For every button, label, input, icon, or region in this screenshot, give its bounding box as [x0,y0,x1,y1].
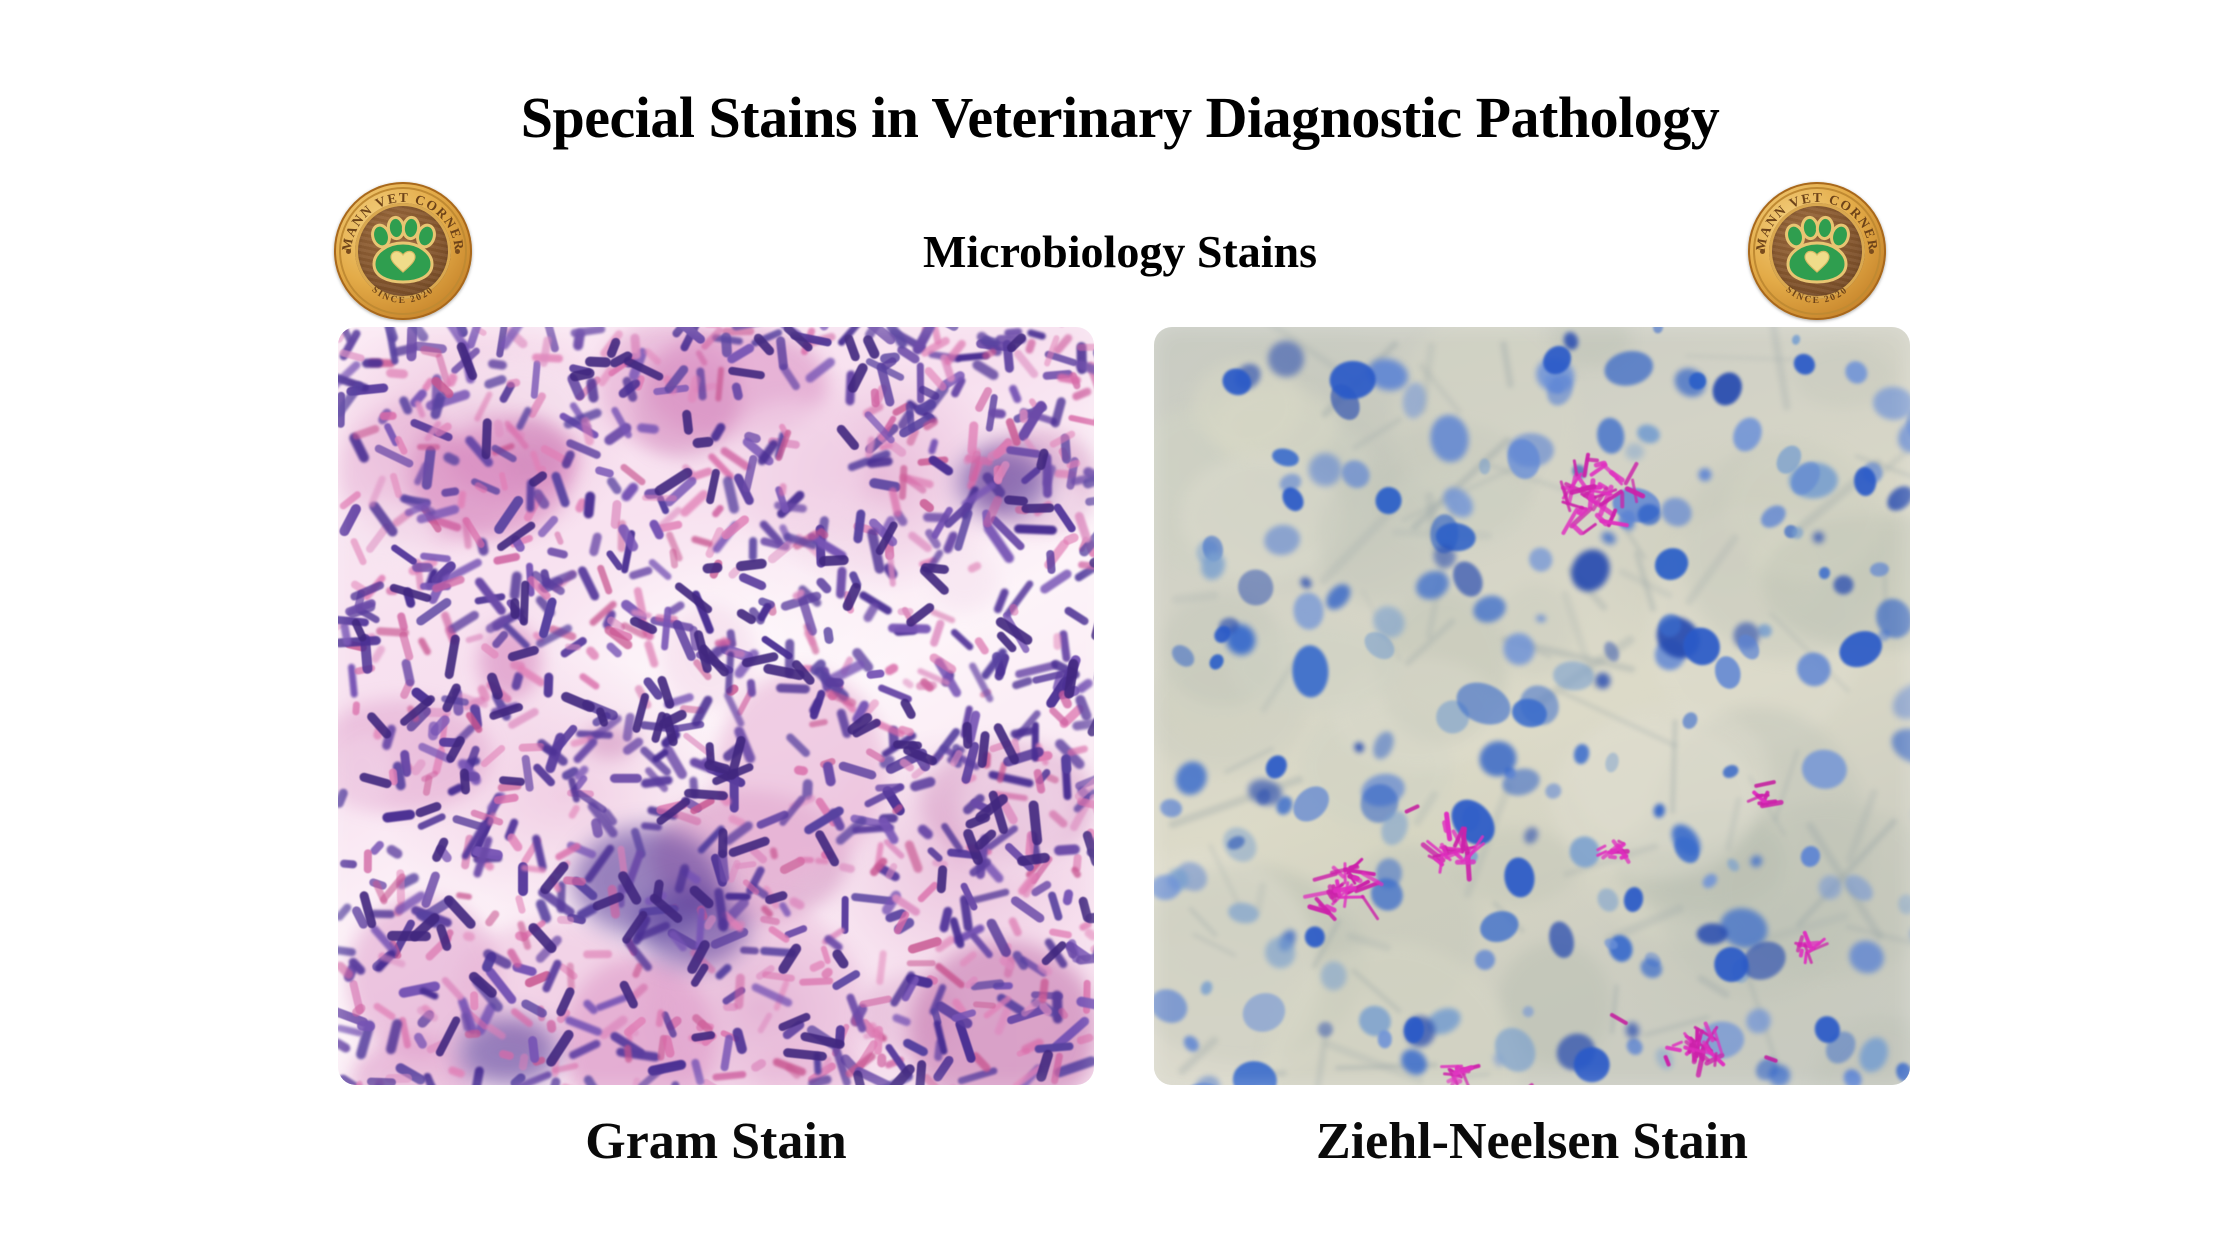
gram-stain-bacillus [459,768,470,794]
gram-stain-bacillus [915,1060,927,1085]
ziehl-neelsen-micrograph-image [1154,327,1910,1085]
gram-stain-bacillus [907,960,936,966]
ziehl-neelsen-blue-nucleus [1508,433,1554,467]
gram-stain-bacillus [1053,633,1062,650]
gram-stain-bacillus [705,742,715,765]
gram-stain-bacillus [471,991,479,1010]
gram-stain-bacillus [585,356,612,367]
gram-stain-bacillus [973,1001,996,1009]
ziehl-neelsen-acid-fast-bacillus [1455,859,1476,864]
gram-stain-bacillus [797,856,814,863]
gram-stain-bacillus [1021,504,1055,514]
gram-stain-bacillus [898,608,914,615]
gram-stain-bacillus [936,865,947,894]
gram-stain-bacillus [357,1021,375,1032]
gram-stain-bacillus [518,742,544,751]
brand-logo-left: MANN VET CORNER SINCE 2020 [334,182,472,320]
page-title: Special Stains in Veterinary Diagnostic … [0,88,2240,149]
gram-stain-bacillus [417,444,440,450]
micrograph-panel-ziehl-neelsen-stain[interactable] [1154,327,1910,1085]
gram-stain-bacillus [1020,409,1028,423]
gram-stain-bacillus [623,1045,632,1063]
gram-stain-bacillus [637,422,660,433]
gram-stain-bacillus [749,537,757,561]
paw-print-icon [364,215,442,287]
gram-stain-bacillus [364,849,372,873]
gram-stain-bacillus [340,860,357,869]
gram-stain-bacillus [610,774,642,783]
gram-stain-bacillus [819,555,849,566]
ziehl-neelsen-blue-nucleus [1624,443,1644,461]
gram-stain-bacillus [544,672,554,698]
slide-root: Special Stains in Veterinary Diagnostic … [0,0,2240,1260]
gram-stain-bacillus [567,962,575,990]
gram-stain-bacillus [776,683,810,694]
gram-stain-bacillus [412,563,433,572]
svg-text:SINCE 2020: SINCE 2020 [1784,285,1851,306]
gram-stain-bacillus [825,677,844,687]
gram-stain-bacillus [915,682,936,691]
svg-text:SINCE 2020: SINCE 2020 [370,285,437,306]
gram-stain-bacillus [719,828,728,858]
gram-stain-bacillus [367,1077,397,1085]
gram-stain-bacillus [917,363,925,404]
gram-stain-bacillus [1077,344,1094,351]
gram-stain-bacillus [583,491,595,519]
gram-stain-bacillus [380,412,397,421]
gram-stain-bacillus [481,418,492,459]
paw-print-icon [1778,215,1856,287]
gram-stain-bacillus [510,598,520,620]
logo-arc-bottom-text: SINCE 2020 [1784,285,1851,306]
gram-stain-bacillus [583,950,612,959]
caption-ziehl-neelsen-stain: Ziehl-Neelsen Stain [1154,1112,1910,1171]
caption-gram-stain: Gram Stain [338,1112,1094,1171]
gram-stain-bacillus [963,721,973,748]
micrograph-panel-gram-stain[interactable] [338,327,1094,1085]
gram-stain-micrograph-image [338,327,1094,1085]
gram-stain-bacillus [725,893,751,901]
gram-stain-bacillus [1061,754,1071,774]
gram-stain-bacillus [361,359,382,368]
gram-stain-bacillus [878,1053,887,1067]
brand-logo-right: MANN VET CORNER SINCE 2020 [1748,182,1886,320]
logo-arc-bottom-text: SINCE 2020 [370,285,437,306]
